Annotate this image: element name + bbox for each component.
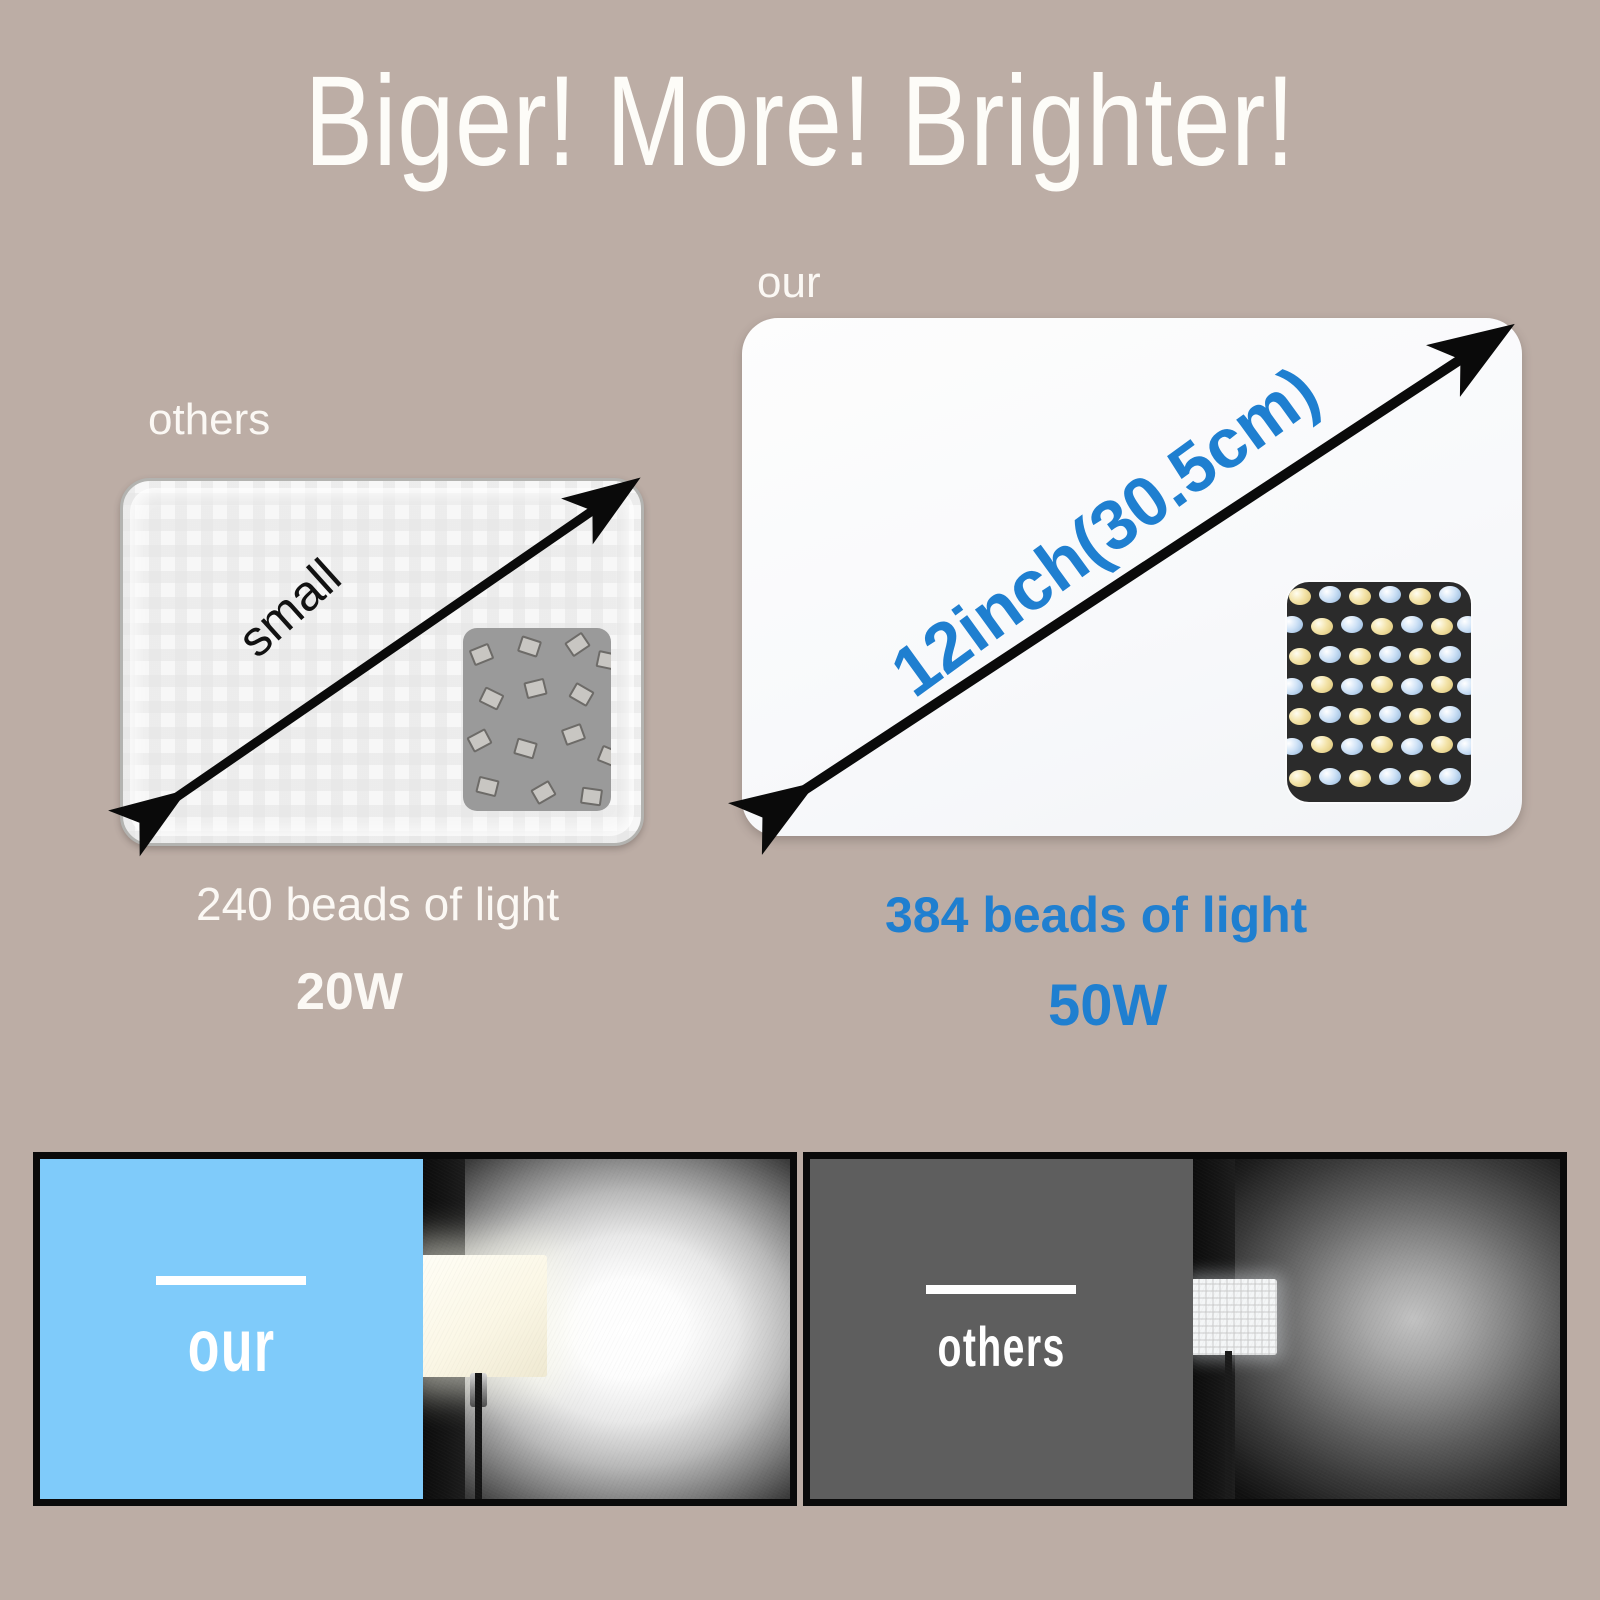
others-beads-caption: 240 beads of light bbox=[196, 877, 559, 931]
our-light-fixture bbox=[423, 1255, 547, 1377]
our-beads-caption: 384 beads of light bbox=[885, 886, 1307, 944]
others-label: others bbox=[148, 395, 270, 445]
our-card-label-block: our bbox=[40, 1159, 423, 1499]
bottom-comparison-strip: our others bbox=[33, 1152, 1567, 1506]
infographic-page: Biger! More! Brighter! others small 240 … bbox=[0, 0, 1600, 1600]
others-card-label-block: others bbox=[810, 1159, 1193, 1499]
compare-card-our: our bbox=[33, 1152, 797, 1506]
our-card-word: our bbox=[187, 1311, 275, 1381]
others-light-photo bbox=[1193, 1159, 1561, 1499]
others-bead-closeup bbox=[463, 628, 611, 811]
our-light-photo bbox=[423, 1159, 791, 1499]
compare-card-others: others bbox=[803, 1152, 1567, 1506]
our-power-caption: 50W bbox=[1048, 972, 1167, 1039]
page-title: Biger! More! Brighter! bbox=[160, 58, 1440, 186]
our-bead-closeup bbox=[1287, 582, 1471, 802]
others-light-fixture bbox=[1193, 1279, 1277, 1355]
others-light-stand bbox=[1225, 1351, 1232, 1499]
others-power-caption: 20W bbox=[296, 962, 403, 1022]
others-card-word: others bbox=[937, 1320, 1065, 1373]
our-light-stand bbox=[475, 1373, 482, 1499]
our-label: our bbox=[757, 258, 821, 308]
others-card-rule bbox=[926, 1285, 1076, 1294]
our-card-rule bbox=[156, 1276, 306, 1285]
